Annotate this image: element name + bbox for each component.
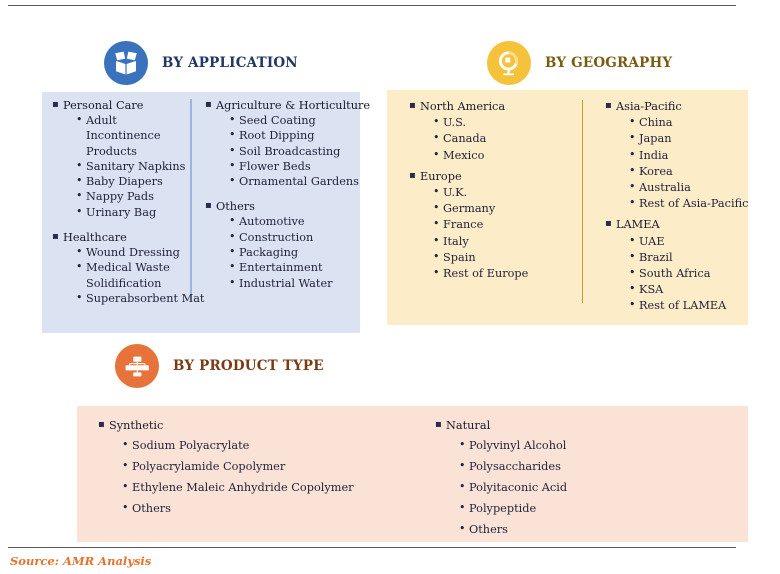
list-item: India bbox=[629, 148, 748, 164]
globe-icon bbox=[487, 41, 531, 85]
list-item: Australia bbox=[629, 180, 748, 196]
list-item: Spain bbox=[433, 250, 583, 266]
group-lamea: LAMEA UAE Brazil South Africa KSA Rest o… bbox=[605, 217, 748, 314]
list-item: Brazil bbox=[629, 250, 748, 266]
group-label: Personal Care bbox=[63, 98, 192, 113]
section-header-product-type: BY PRODUCT TYPE bbox=[115, 344, 324, 388]
list-item: Medical Waste Solidification bbox=[76, 260, 192, 291]
list-item: Flower Beds bbox=[229, 159, 360, 174]
list-item: Urinary Bag bbox=[76, 205, 192, 220]
list-item: Polyvinyl Alcohol bbox=[459, 435, 748, 456]
group-europe: Europe U.K. Germany France Italy Spain R… bbox=[409, 169, 583, 282]
list-item: Superabsorbent Mat bbox=[76, 291, 192, 306]
list-item: Canada bbox=[433, 131, 583, 147]
group-list: Personal Care Adult Incontinence Product… bbox=[52, 98, 192, 306]
list-item: Construction bbox=[229, 230, 360, 245]
application-column-left: Personal Care Adult Incontinence Product… bbox=[42, 92, 192, 333]
list-item: Rest of Europe bbox=[433, 266, 583, 282]
list-item: Rest of Asia-Pacific bbox=[629, 196, 748, 212]
group-agriculture-horticulture: Agriculture & Horticulture Seed Coating … bbox=[205, 98, 360, 189]
group-list: Agriculture & Horticulture Seed Coating … bbox=[205, 98, 360, 291]
group-list: Natural Polyvinyl Alcohol Polysaccharide… bbox=[435, 417, 748, 540]
list-item: France bbox=[433, 217, 583, 233]
sub-list: U.K. Germany France Italy Spain Rest of … bbox=[420, 185, 583, 282]
list-item: Polyitaconic Acid bbox=[459, 477, 748, 498]
list-item: Soil Broadcasting bbox=[229, 144, 360, 159]
sub-list: Sodium Polyacrylate Polyacrylamide Copol… bbox=[109, 435, 422, 519]
group-label: Synthetic bbox=[109, 417, 422, 435]
group-spacer bbox=[52, 221, 192, 230]
group-label: Healthcare bbox=[63, 230, 192, 245]
group-label: North America bbox=[420, 99, 583, 115]
sub-list: Adult Incontinence Products Sanitary Nap… bbox=[63, 113, 192, 220]
group-label: Asia-Pacific bbox=[616, 99, 748, 115]
group-personal-care: Personal Care Adult Incontinence Product… bbox=[52, 98, 192, 220]
infographic-canvas: BY APPLICATION Personal Care Adult Incon… bbox=[0, 0, 780, 574]
sub-list: U.S. Canada Mexico bbox=[420, 115, 583, 164]
list-item: Japan bbox=[629, 131, 748, 147]
top-divider-rule bbox=[8, 5, 736, 6]
group-list: Asia-Pacific China Japan India Korea Aus… bbox=[605, 99, 748, 315]
group-spacer bbox=[205, 190, 360, 199]
group-synthetic: Synthetic Sodium Polyacrylate Polyacryla… bbox=[98, 417, 422, 519]
list-item: Packaging bbox=[229, 245, 360, 260]
application-column-right: Agriculture & Horticulture Seed Coating … bbox=[192, 92, 360, 333]
list-item: Industrial Water bbox=[229, 276, 360, 291]
list-item: Polypeptide bbox=[459, 498, 748, 519]
list-item: China bbox=[629, 115, 748, 131]
panel-geography: North America U.S. Canada Mexico Europe … bbox=[387, 90, 748, 325]
section-title-product-type: BY PRODUCT TYPE bbox=[173, 358, 324, 374]
section-title-application: BY APPLICATION bbox=[162, 55, 298, 71]
panel-application: Personal Care Adult Incontinence Product… bbox=[42, 92, 360, 333]
list-item: Ethylene Maleic Anhydride Copolymer bbox=[122, 477, 422, 498]
list-item: U.K. bbox=[433, 185, 583, 201]
list-item: Seed Coating bbox=[229, 113, 360, 128]
list-item: Germany bbox=[433, 201, 583, 217]
group-label: Europe bbox=[420, 169, 583, 185]
list-item: Mexico bbox=[433, 148, 583, 164]
list-item: Others bbox=[459, 519, 748, 540]
group-label: LAMEA bbox=[616, 217, 748, 233]
group-healthcare: Healthcare Wound Dressing Medical Waste … bbox=[52, 230, 192, 306]
group-label: Others bbox=[216, 199, 360, 214]
sub-list: UAE Brazil South Africa KSA Rest of LAME… bbox=[616, 234, 748, 315]
list-item: U.S. bbox=[433, 115, 583, 131]
list-item: Ornamental Gardens bbox=[229, 174, 360, 189]
list-item: Baby Diapers bbox=[76, 174, 192, 189]
sub-list: Automotive Construction Packaging Entert… bbox=[216, 214, 360, 290]
list-item: Automotive bbox=[229, 214, 360, 229]
list-item: South Africa bbox=[629, 266, 748, 282]
hierarchy-icon bbox=[115, 344, 159, 388]
list-item: Polyacrylamide Copolymer bbox=[122, 456, 422, 477]
section-title-geography: BY GEOGRAPHY bbox=[545, 55, 672, 71]
list-item: Adult Incontinence Products bbox=[76, 113, 192, 159]
section-header-application: BY APPLICATION bbox=[104, 41, 298, 85]
panel-product-type: Synthetic Sodium Polyacrylate Polyacryla… bbox=[77, 406, 748, 542]
section-header-geography: BY GEOGRAPHY bbox=[487, 41, 672, 85]
group-list: North America U.S. Canada Mexico Europe … bbox=[409, 99, 583, 282]
sub-list: China Japan India Korea Australia Rest o… bbox=[616, 115, 748, 212]
group-label: Natural bbox=[446, 417, 748, 435]
open-box-icon bbox=[104, 41, 148, 85]
list-item: Italy bbox=[433, 234, 583, 250]
list-item: UAE bbox=[629, 234, 748, 250]
sub-list: Wound Dressing Medical Waste Solidificat… bbox=[63, 245, 192, 306]
sub-list: Polyvinyl Alcohol Polysaccharides Polyit… bbox=[446, 435, 748, 540]
list-item: Wound Dressing bbox=[76, 245, 192, 260]
bottom-divider-rule bbox=[8, 547, 736, 548]
group-others-application: Others Automotive Construction Packaging… bbox=[205, 199, 360, 290]
geography-column-right: Asia-Pacific China Japan India Korea Aus… bbox=[583, 90, 748, 325]
geography-column-left: North America U.S. Canada Mexico Europe … bbox=[387, 90, 583, 325]
list-item: Entertainment bbox=[229, 260, 360, 275]
list-item: Sanitary Napkins bbox=[76, 159, 192, 174]
list-item: Korea bbox=[629, 164, 748, 180]
source-note: Source: AMR Analysis bbox=[10, 554, 151, 568]
sub-list: Seed Coating Root Dipping Soil Broadcast… bbox=[216, 113, 360, 189]
list-item: Root Dipping bbox=[229, 128, 360, 143]
group-natural: Natural Polyvinyl Alcohol Polysaccharide… bbox=[435, 417, 748, 540]
list-item: Sodium Polyacrylate bbox=[122, 435, 422, 456]
product-type-column-right: Natural Polyvinyl Alcohol Polysaccharide… bbox=[422, 406, 748, 542]
group-label: Agriculture & Horticulture bbox=[216, 98, 360, 113]
group-list: Synthetic Sodium Polyacrylate Polyacryla… bbox=[98, 417, 422, 519]
list-item: Polysaccharides bbox=[459, 456, 748, 477]
group-asia-pacific: Asia-Pacific China Japan India Korea Aus… bbox=[605, 99, 748, 212]
group-north-america: North America U.S. Canada Mexico bbox=[409, 99, 583, 164]
list-item: Rest of LAMEA bbox=[629, 298, 748, 314]
list-item: Others bbox=[122, 498, 422, 519]
list-item: Nappy Pads bbox=[76, 189, 192, 204]
list-item: KSA bbox=[629, 282, 748, 298]
product-type-column-left: Synthetic Sodium Polyacrylate Polyacryla… bbox=[77, 406, 422, 542]
